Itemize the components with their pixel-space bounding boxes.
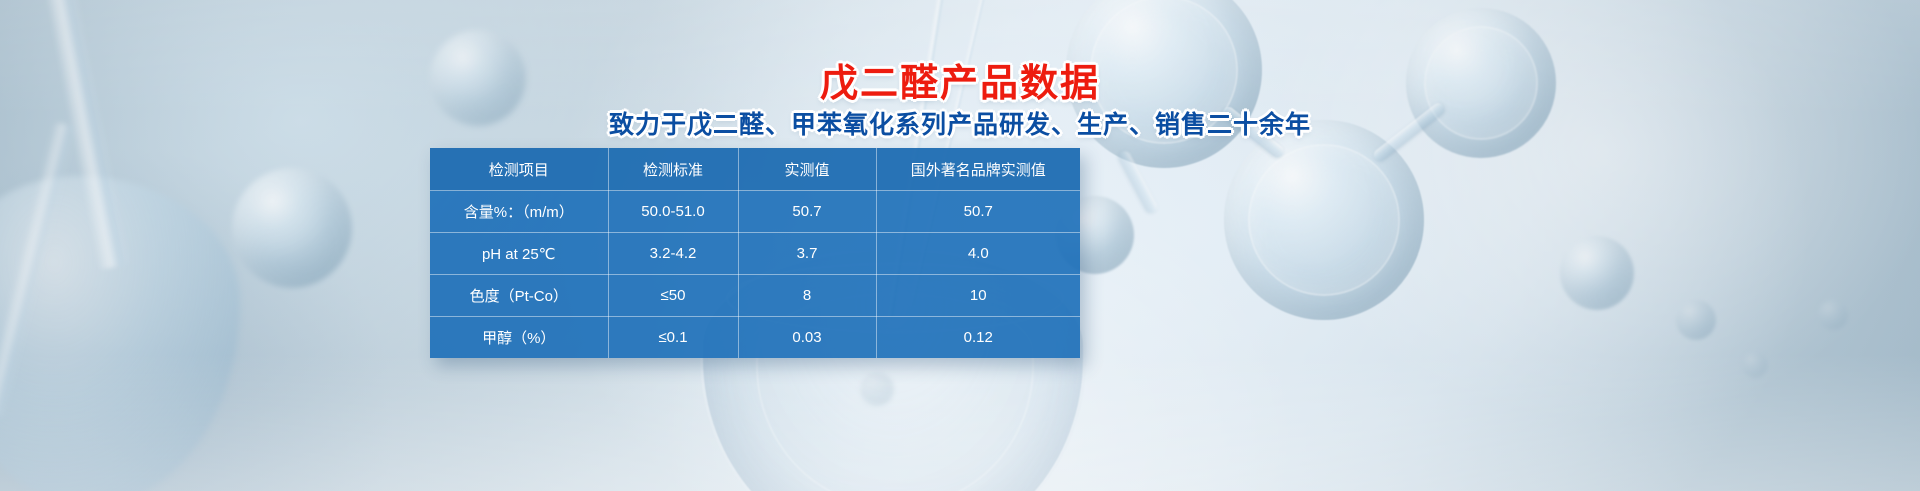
cell-standard: 3.2-4.2 bbox=[608, 233, 738, 275]
spec-table-container: 检测项目 检测标准 实测值 国外著名品牌实测值 含量%：（m/m） 50.0-5… bbox=[430, 148, 1080, 358]
cell-foreign-brand: 50.7 bbox=[876, 191, 1080, 233]
cell-test-item: 色度（Pt-Co） bbox=[430, 275, 608, 317]
banner-title: 戊二醛产品数据 bbox=[0, 52, 1920, 107]
table-row: 含量%：（m/m） 50.0-51.0 50.7 50.7 bbox=[430, 191, 1080, 233]
cell-standard: ≤50 bbox=[608, 275, 738, 317]
product-data-banner: 戊二醛产品数据 致力于戊二醛、甲苯氧化系列产品研发、生产、销售二十余年 检测项目… bbox=[0, 0, 1920, 491]
cell-foreign-brand: 0.12 bbox=[876, 317, 1080, 359]
cell-standard: 50.0-51.0 bbox=[608, 191, 738, 233]
table-row: 甲醇（%） ≤0.1 0.03 0.12 bbox=[430, 317, 1080, 359]
cell-standard: ≤0.1 bbox=[608, 317, 738, 359]
cell-measured: 50.7 bbox=[738, 191, 876, 233]
column-header-test-item: 检测项目 bbox=[430, 148, 608, 191]
column-header-standard: 检测标准 bbox=[608, 148, 738, 191]
table-header-row: 检测项目 检测标准 实测值 国外著名品牌实测值 bbox=[430, 148, 1080, 191]
banner-content: 戊二醛产品数据 致力于戊二醛、甲苯氧化系列产品研发、生产、销售二十余年 检测项目… bbox=[0, 0, 1920, 491]
product-spec-table: 检测项目 检测标准 实测值 国外著名品牌实测值 含量%：（m/m） 50.0-5… bbox=[430, 148, 1080, 358]
cell-measured: 8 bbox=[738, 275, 876, 317]
cell-foreign-brand: 4.0 bbox=[876, 233, 1080, 275]
banner-subtitle: 致力于戊二醛、甲苯氧化系列产品研发、生产、销售二十余年 bbox=[0, 105, 1920, 141]
column-header-foreign-brand: 国外著名品牌实测值 bbox=[876, 148, 1080, 191]
cell-test-item: pH at 25℃ bbox=[430, 233, 608, 275]
column-header-measured: 实测值 bbox=[738, 148, 876, 191]
table-row: pH at 25℃ 3.2-4.2 3.7 4.0 bbox=[430, 233, 1080, 275]
cell-test-item: 甲醇（%） bbox=[430, 317, 608, 359]
cell-measured: 3.7 bbox=[738, 233, 876, 275]
cell-foreign-brand: 10 bbox=[876, 275, 1080, 317]
cell-test-item: 含量%：（m/m） bbox=[430, 191, 608, 233]
table-row: 色度（Pt-Co） ≤50 8 10 bbox=[430, 275, 1080, 317]
cell-measured: 0.03 bbox=[738, 317, 876, 359]
